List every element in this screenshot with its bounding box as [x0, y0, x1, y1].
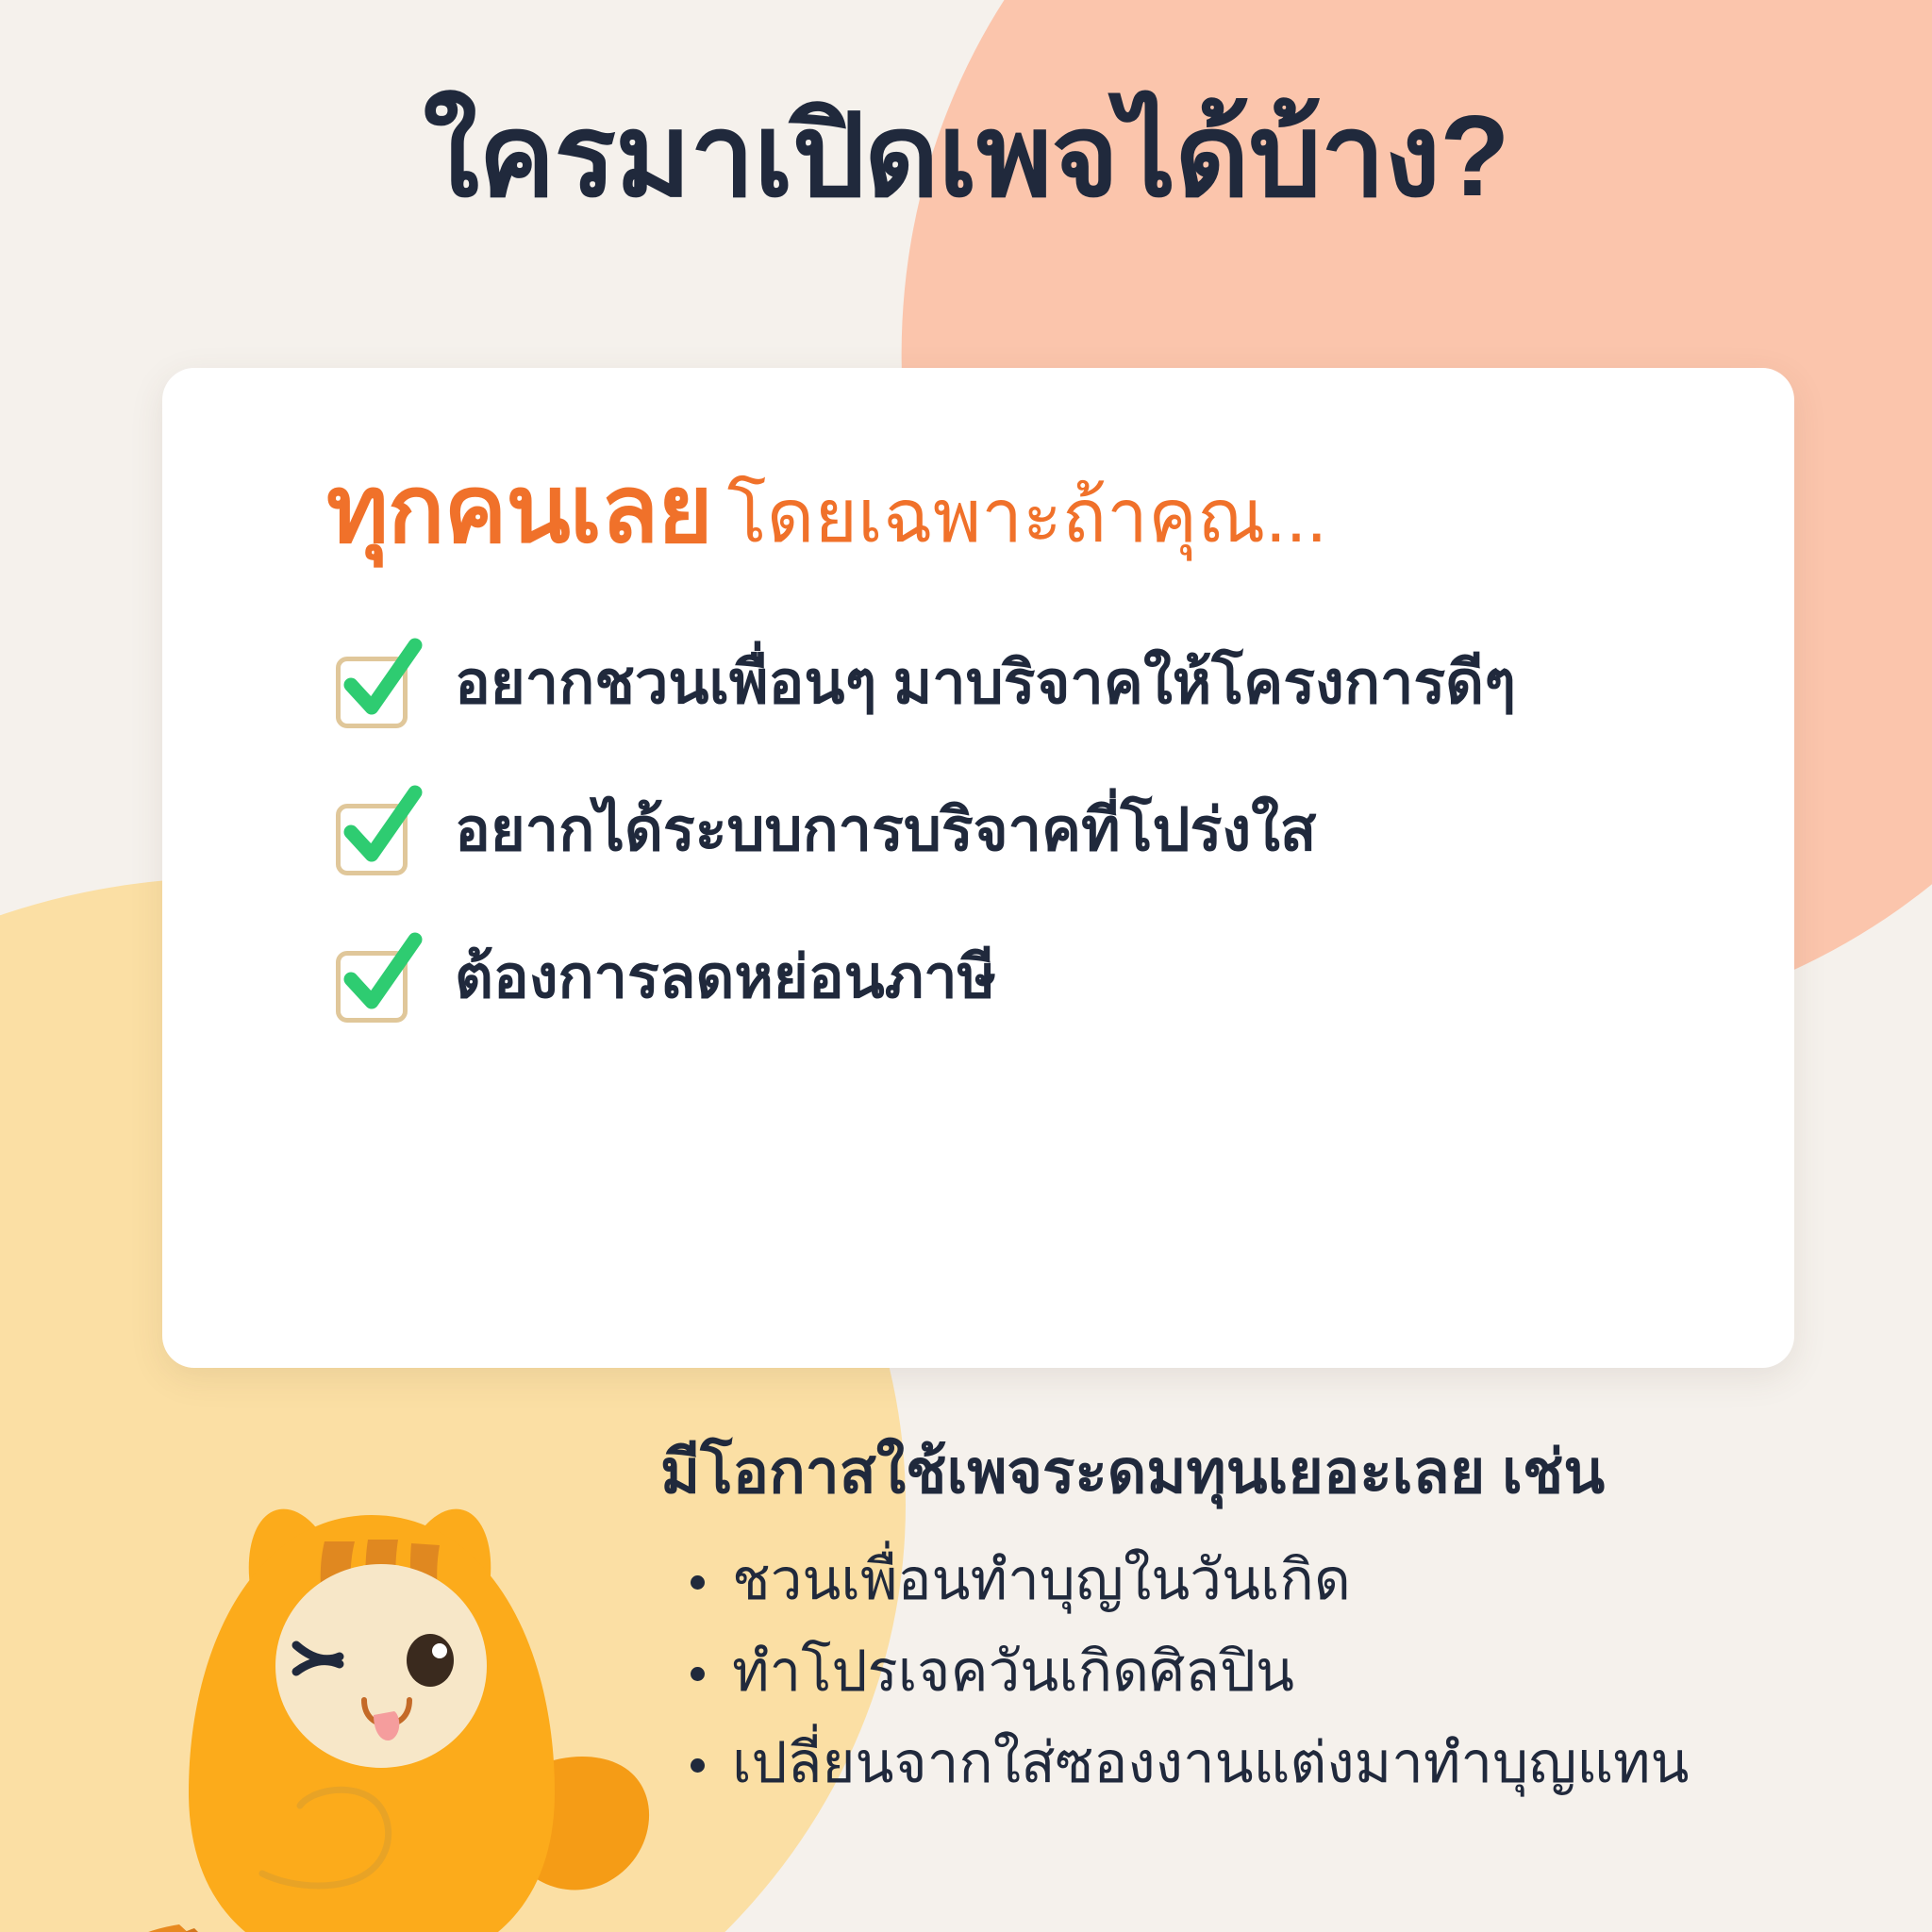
examples-heading: มีโอกาสใช้เพจระดมทุนเยอะเลย เช่น: [660, 1434, 1887, 1509]
examples-list: ชวนเพื่อนทำบุญในวันเกิด ทำโปรเจควันเกิดศ…: [660, 1534, 1887, 1809]
checkbox-checked[interactable]: [328, 643, 415, 730]
checklist-item: อยากได้ระบบการบริจาคที่โปร่งใส: [328, 787, 1709, 877]
checkbox-checked[interactable]: [328, 938, 415, 1024]
page-title: ใครมาเปิดเพจได้บ้าง?: [0, 87, 1932, 225]
bullet-dot-icon: [691, 1575, 705, 1590]
bullet-dot-icon: [691, 1667, 705, 1681]
checklist-item: อยากชวนเพื่อนๆ มาบริจาคให้โครงการดีๆ: [328, 640, 1709, 730]
bullet-dot-icon: [691, 1758, 705, 1773]
cat-mascot-illustration: [92, 1481, 658, 1932]
list-item: ชวนเพื่อนทำบุญในวันเกิด: [732, 1534, 1887, 1625]
card-heading-rest: โดยเฉพาะถ้าคุณ...: [727, 475, 1327, 558]
examples-section: มีโอกาสใช้เพจระดมทุนเยอะเลย เช่น ชวนเพื่…: [660, 1434, 1887, 1809]
checklist-item: ต้องการลดหย่อนภาษี: [328, 934, 1709, 1024]
list-item-label: ชวนเพื่อนทำบุญในวันเกิด: [732, 1548, 1351, 1611]
checklist-item-label: อยากได้ระบบการบริจาคที่โปร่งใส: [455, 787, 1316, 870]
cat-eye-glint: [432, 1643, 447, 1658]
checklist-item-label: อยากชวนเพื่อนๆ มาบริจาคให้โครงการดีๆ: [455, 640, 1516, 723]
checklist: อยากชวนเพื่อนๆ มาบริจาคให้โครงการดีๆ อยา…: [328, 640, 1709, 1024]
check-icon: [328, 632, 430, 734]
check-icon: [328, 779, 430, 881]
list-item: ทำโปรเจควันเกิดศิลปิน: [732, 1625, 1887, 1717]
list-item-label: เปลี่ยนจากใส่ซองงานแต่งมาทำบุญแทน: [732, 1731, 1690, 1794]
checklist-item-label: ต้องการลดหย่อนภาษี: [455, 934, 996, 1017]
check-icon: [328, 926, 430, 1028]
cat-eye-open: [407, 1634, 454, 1687]
list-item: เปลี่ยนจากใส่ซองงานแต่งมาทำบุญแทน: [732, 1717, 1887, 1808]
card-heading-highlight: ทุกคนเลย: [326, 457, 712, 562]
info-card: ทุกคนเลยโดยเฉพาะถ้าคุณ... อยากชวนเพื่อนๆ…: [162, 368, 1794, 1368]
checkbox-checked[interactable]: [328, 791, 415, 877]
card-heading: ทุกคนเลยโดยเฉพาะถ้าคุณ...: [326, 462, 1327, 557]
list-item-label: ทำโปรเจควันเกิดศิลปิน: [732, 1640, 1294, 1703]
poster-canvas: ใครมาเปิดเพจได้บ้าง? ทุกคนเลยโดยเฉพาะถ้า…: [0, 0, 1932, 1932]
